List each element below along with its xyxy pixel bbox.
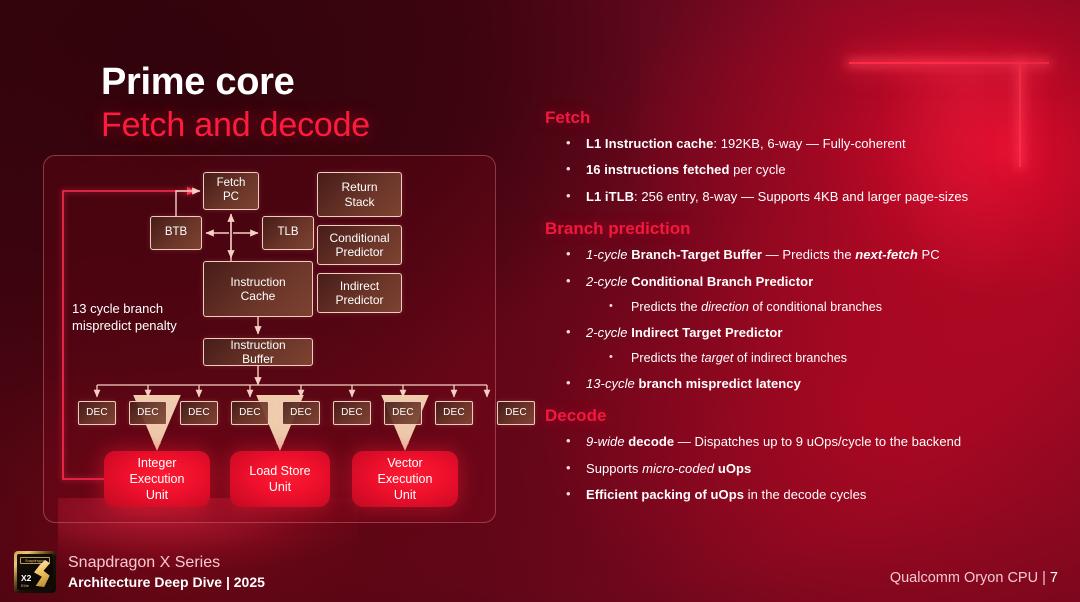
page-title: Prime core Fetch and decode <box>101 60 370 146</box>
snapdragon-s-glyph-icon <box>33 560 50 587</box>
instruction-buffer: InstructionBuffer <box>203 338 313 366</box>
instruction-cache-label: InstructionCache <box>230 275 285 303</box>
content-section: Branch prediction1-cycle Branch-Target B… <box>545 219 1060 392</box>
return-stack: ReturnStack <box>317 172 402 217</box>
vector-execution-unit: VectorExecutionUnit <box>352 451 458 507</box>
fetch-pc-label: FetchPC <box>217 177 246 204</box>
dec-block-6: DEC <box>333 401 371 425</box>
footer-meta: Qualcomm Oryon CPU | 7 <box>890 570 1058 586</box>
indirect-predictor-label: IndirectPredictor <box>335 279 383 307</box>
dec-block-3-label: DEC <box>188 407 210 419</box>
dec-block-8-label: DEC <box>443 407 465 419</box>
section-heading: Branch prediction <box>545 219 1060 239</box>
content-section: Decode9-wide decode — Dispatches up to 9… <box>545 406 1060 503</box>
dec-block-4-label: DEC <box>239 407 261 419</box>
return-stack-label: ReturnStack <box>341 180 377 208</box>
integer-execution-unit-label: IntegerExecutionUnit <box>130 455 185 503</box>
bullet-list: 1-cycle Branch-Target Buffer — Predicts … <box>545 246 1060 392</box>
bullet-item: 2-cycle Indirect Target Predictor <box>545 324 1060 341</box>
bullet-item: 2-cycle Conditional Branch Predictor <box>545 273 1060 290</box>
footer-deck-label: Qualcomm Oryon CPU <box>890 570 1038 586</box>
slide-canvas: Prime core Fetch and decode <box>0 0 1080 602</box>
btb-label: BTB <box>165 226 187 240</box>
bullet-item-sub: Predicts the target of indirect branches <box>545 350 1060 367</box>
tlb: TLB <box>262 216 314 250</box>
instruction-cache: InstructionCache <box>203 261 313 317</box>
conditional-predictor: ConditionalPredictor <box>317 225 402 265</box>
instruction-buffer-label: InstructionBuffer <box>230 338 285 366</box>
conditional-predictor-label: ConditionalPredictor <box>329 231 389 259</box>
bullet-item: Efficient packing of uOps in the decode … <box>545 486 1060 503</box>
vector-execution-unit-label: VectorExecutionUnit <box>378 455 433 503</box>
dec-block-7: DEC <box>384 401 422 425</box>
title-primary: Prime core <box>101 60 370 105</box>
chip-logo-x2: X2 <box>21 574 31 583</box>
dec-block-9-label: DEC <box>505 407 527 419</box>
dec-block-5: DEC <box>282 401 320 425</box>
footer-brand-line1: Snapdragon X Series <box>68 552 265 574</box>
footer-brand-line2: Architecture Deep Dive | 2025 <box>68 573 265 592</box>
load-store-unit: Load StoreUnit <box>230 451 330 507</box>
dec-block-7-label: DEC <box>392 407 414 419</box>
chip-logo-elite: Elite <box>21 584 29 588</box>
dec-block-1-label: DEC <box>86 407 108 419</box>
dec-block-4: DEC <box>231 401 269 425</box>
title-secondary: Fetch and decode <box>101 105 370 146</box>
dec-block-6-label: DEC <box>341 407 363 419</box>
dec-block-5-label: DEC <box>290 407 312 419</box>
bullet-list: L1 Instruction cache: 192KB, 6-way — Ful… <box>545 135 1060 205</box>
bullet-item: L1 iTLB: 256 entry, 8-way — Supports 4KB… <box>545 188 1060 205</box>
mispredict-penalty-note: 13 cycle branch mispredict penalty <box>72 301 182 334</box>
load-store-unit-label: Load StoreUnit <box>249 463 310 495</box>
bullet-item: 16 instructions fetched per cycle <box>545 161 1060 178</box>
bullet-item-sub: Predicts the direction of conditional br… <box>545 299 1060 316</box>
footer-separator: | <box>1042 570 1046 586</box>
dec-block-8: DEC <box>435 401 473 425</box>
dec-block-2-label: DEC <box>137 407 159 419</box>
section-heading: Fetch <box>545 108 1060 128</box>
dec-block-9: DEC <box>497 401 535 425</box>
section-heading: Decode <box>545 406 1060 426</box>
footer-brand: Snapdragon X2 Elite Snapdragon X Series … <box>14 551 265 593</box>
fetch-pc: FetchPC <box>203 172 259 210</box>
bullet-list: 9-wide decode — Dispatches up to 9 uOps/… <box>545 433 1060 503</box>
bullet-item: 13-cycle branch mispredict latency <box>545 375 1060 392</box>
bullet-item: L1 Instruction cache: 192KB, 6-way — Ful… <box>545 135 1060 152</box>
content-section: FetchL1 Instruction cache: 192KB, 6-way … <box>545 108 1060 205</box>
integer-execution-unit: IntegerExecutionUnit <box>104 451 210 507</box>
bullet-item: Supports micro-coded uOps <box>545 460 1060 477</box>
indirect-predictor: IndirectPredictor <box>317 273 402 313</box>
content-column: FetchL1 Instruction cache: 192KB, 6-way … <box>545 108 1060 518</box>
tlb-label: TLB <box>277 226 298 240</box>
page-number: 7 <box>1050 570 1058 586</box>
dec-block-3: DEC <box>180 401 218 425</box>
snapdragon-chip-logo-icon: Snapdragon X2 Elite <box>14 551 56 593</box>
bullet-item: 1-cycle Branch-Target Buffer — Predicts … <box>545 246 1060 263</box>
dec-block-2: DEC <box>129 401 167 425</box>
btb: BTB <box>150 216 202 250</box>
bullet-item: 9-wide decode — Dispatches up to 9 uOps/… <box>545 433 1060 450</box>
dec-block-1: DEC <box>78 401 116 425</box>
